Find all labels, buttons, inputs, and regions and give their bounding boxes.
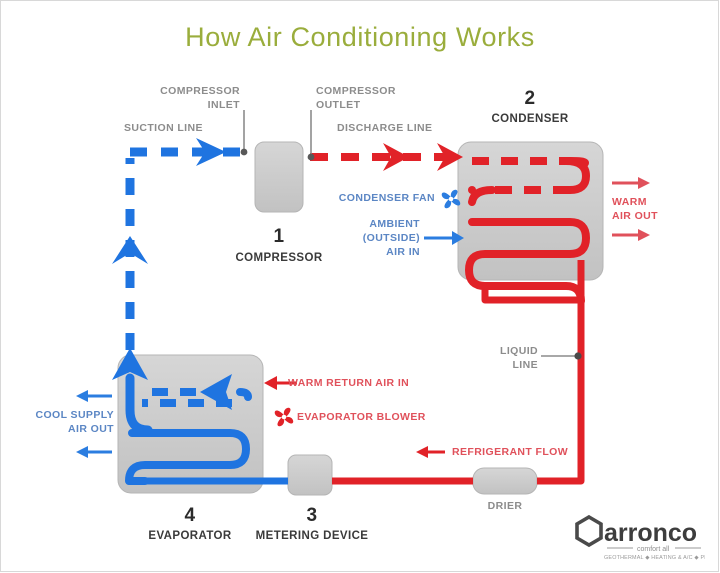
discharge-line-label: DISCHARGE LINE — [337, 122, 432, 134]
refrigerant-flow-arrow — [416, 446, 445, 458]
hexagon-icon — [577, 517, 601, 545]
logo-tagline-text: comfort all — [637, 546, 670, 553]
drier-label: DRIER — [468, 500, 542, 512]
compressor-body — [255, 142, 303, 212]
evaporator-blower-label: EVAPORATOR BLOWER — [297, 411, 426, 423]
compressor-outlet-label-line2: OUTLET — [316, 99, 360, 111]
refrigerant-flow-label: REFRIGERANT FLOW — [452, 446, 568, 458]
evaporator-number: 4 — [150, 505, 230, 527]
ambient-air-label-line2: (OUTSIDE) — [347, 232, 420, 244]
compressor-name: COMPRESSOR — [222, 252, 336, 264]
warm-air-out-label-line1: WARM — [612, 196, 647, 208]
suction-line-label: SUCTION LINE — [124, 122, 203, 134]
evaporator-blower-icon — [275, 408, 294, 427]
condenser-name: CONDENSER — [480, 113, 580, 125]
discharge-line — [310, 143, 463, 171]
condenser-fan-icon — [442, 190, 461, 209]
arronco-logo[interactable]: arronco comfort all GEOTHERMAL ◆ HEATING… — [575, 513, 705, 561]
drier-body — [473, 468, 537, 494]
cool-supply-air-label-line1: COOL SUPPLY — [20, 409, 114, 421]
compressor-inlet-leader — [241, 110, 248, 155]
condenser-number: 2 — [485, 88, 575, 110]
cool-supply-air-label-line2: AIR OUT — [20, 423, 114, 435]
cool-supply-air-arrow-top — [76, 390, 112, 402]
liquid-line-label-line2: LINE — [478, 359, 538, 371]
warm-air-out-label-line2: AIR OUT — [612, 210, 658, 222]
warm-return-air-label: WARM RETURN AIR IN — [288, 377, 409, 389]
warm-air-out-arrow-top — [612, 177, 650, 189]
suction-line — [112, 138, 248, 350]
liquid-line-leader — [541, 352, 582, 359]
compressor-outlet-leader — [308, 110, 315, 160]
compressor-inlet-label-line2: INLET — [145, 99, 240, 111]
ambient-air-label-line1: AMBIENT — [355, 218, 420, 230]
metering-device-number: 3 — [272, 505, 352, 527]
compressor-number: 1 — [236, 226, 322, 248]
cool-supply-air-arrow-bottom — [76, 446, 112, 458]
page-title: How Air Conditioning Works — [0, 22, 720, 53]
warm-air-out-arrow-bottom — [612, 229, 650, 241]
logo-services-text: GEOTHERMAL ◆ HEATING & A/C ◆ PLUMBING — [604, 555, 705, 561]
condenser-fan-label: CONDENSER FAN — [330, 192, 435, 204]
ambient-air-label-line3: AIR IN — [355, 246, 420, 258]
diagram-canvas: How Air Conditioning Works COMPRESSOR IN… — [0, 0, 720, 573]
liquid-line-label-line1: LIQUID — [478, 345, 538, 357]
metering-device-name: METERING DEVICE — [247, 530, 377, 542]
compressor-inlet-label-line1: COMPRESSOR — [145, 85, 240, 97]
compressor-outlet-label-line1: COMPRESSOR — [316, 85, 396, 97]
evaporator-name: EVAPORATOR — [136, 530, 244, 542]
logo-brand-text: arronco — [604, 519, 697, 547]
metering-device-body — [288, 455, 332, 495]
